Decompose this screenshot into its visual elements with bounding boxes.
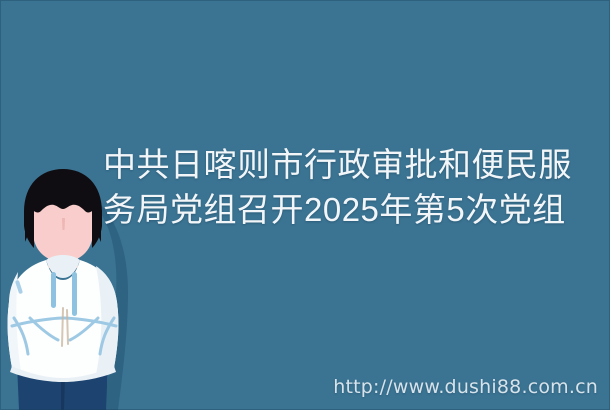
headline-text: 中共日喀则市行政审批和便民服务局党组召开2025年第5次党组 [103,142,598,232]
nose [62,218,65,230]
watermark-url: http://www.dushi88.com.cn [333,376,598,398]
drawstring-left [51,272,56,308]
drawstring-right [72,272,77,316]
news-thumbnail-card: 中共日喀则市行政审批和便民服务局党组召开2025年第5次党组 http://ww… [0,0,610,410]
hoodie [8,255,119,382]
